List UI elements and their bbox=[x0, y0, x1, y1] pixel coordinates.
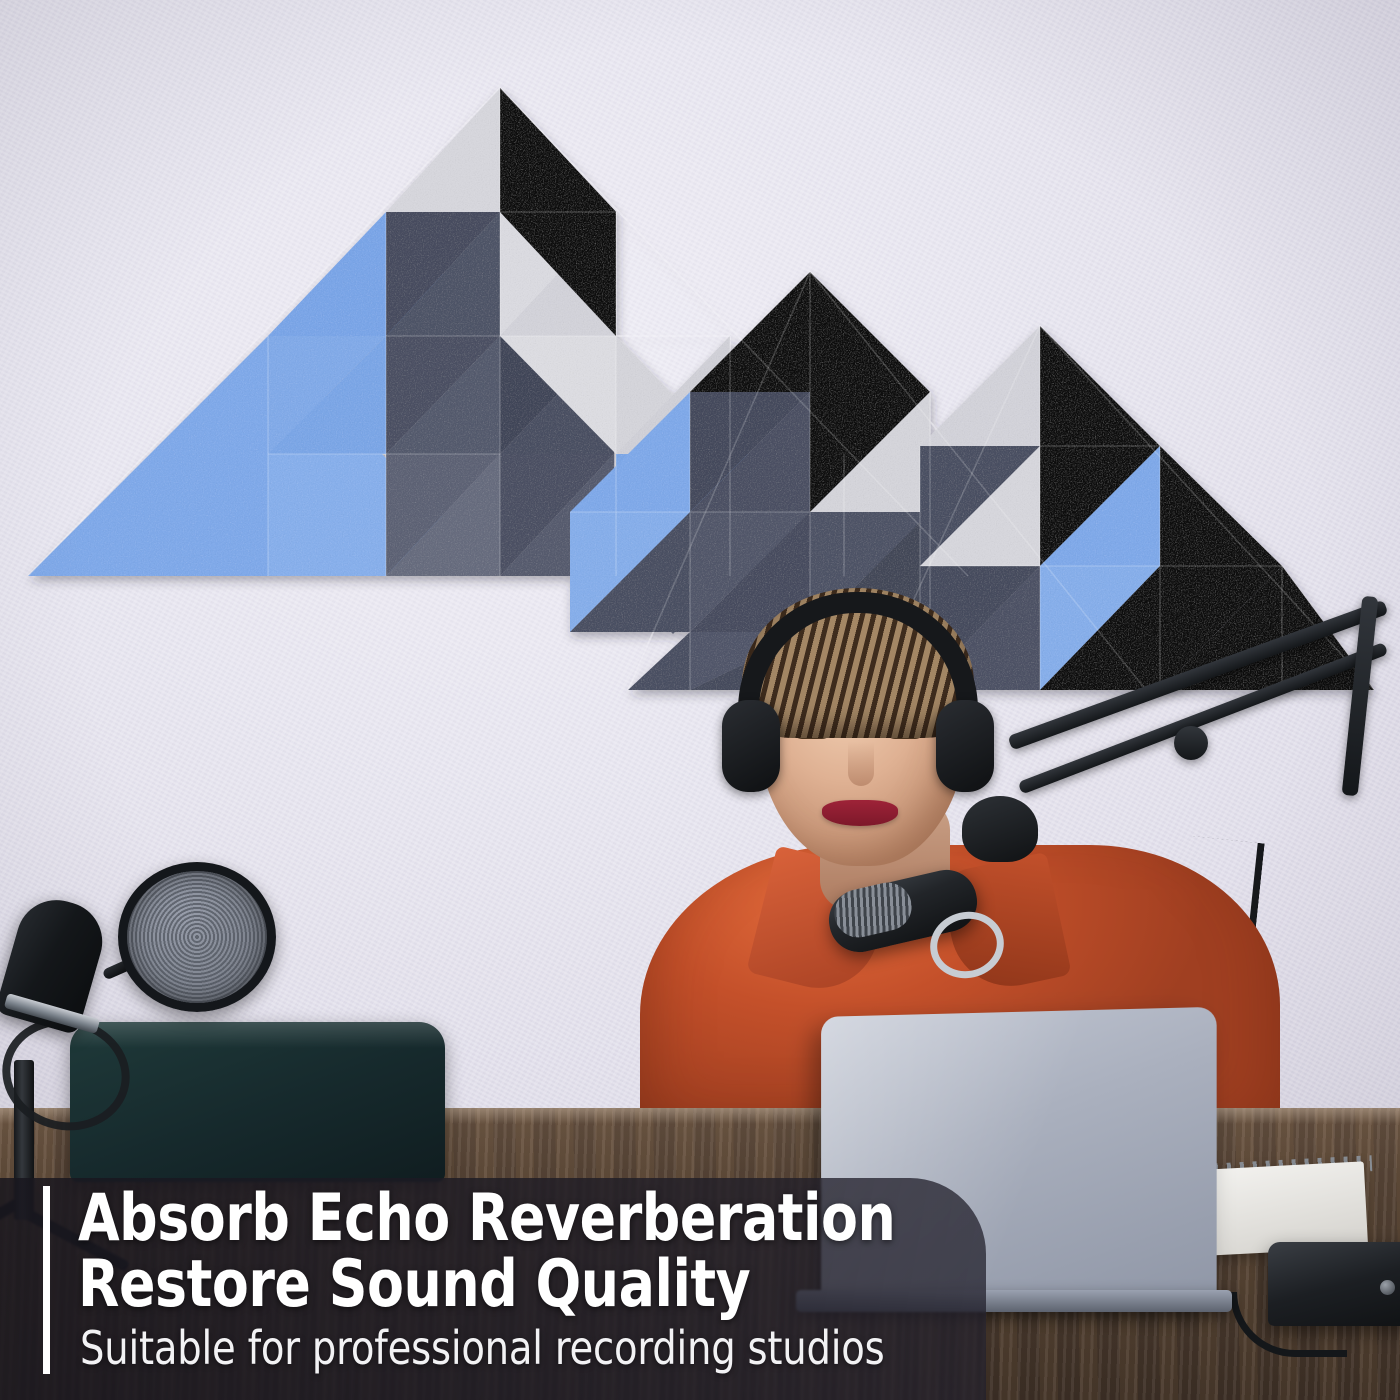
chair-highlight bbox=[70, 1022, 445, 1048]
boom-arm-joint bbox=[1174, 726, 1208, 760]
speaker-knob bbox=[1380, 1280, 1395, 1295]
headline-line-1: Absorb Echo Reverberation bbox=[78, 1181, 895, 1256]
headphones-headband bbox=[738, 592, 978, 710]
mic-shock-mount bbox=[962, 796, 1038, 862]
nose bbox=[848, 742, 874, 786]
product-banner: Absorb Echo Reverberation Restore Sound … bbox=[0, 0, 1400, 1400]
pop-filter bbox=[118, 862, 276, 1012]
headphone-earcup-left bbox=[722, 700, 780, 792]
subtitle: Suitable for professional recording stud… bbox=[80, 1322, 884, 1374]
accent-bar bbox=[43, 1186, 50, 1374]
lips bbox=[822, 800, 898, 826]
headphone-earcup-right bbox=[936, 700, 994, 792]
office-chair-back bbox=[70, 1022, 445, 1182]
headline-line-2: Restore Sound Quality bbox=[78, 1252, 888, 1318]
headline: Absorb Echo Reverberation Restore Sound … bbox=[78, 1186, 888, 1318]
